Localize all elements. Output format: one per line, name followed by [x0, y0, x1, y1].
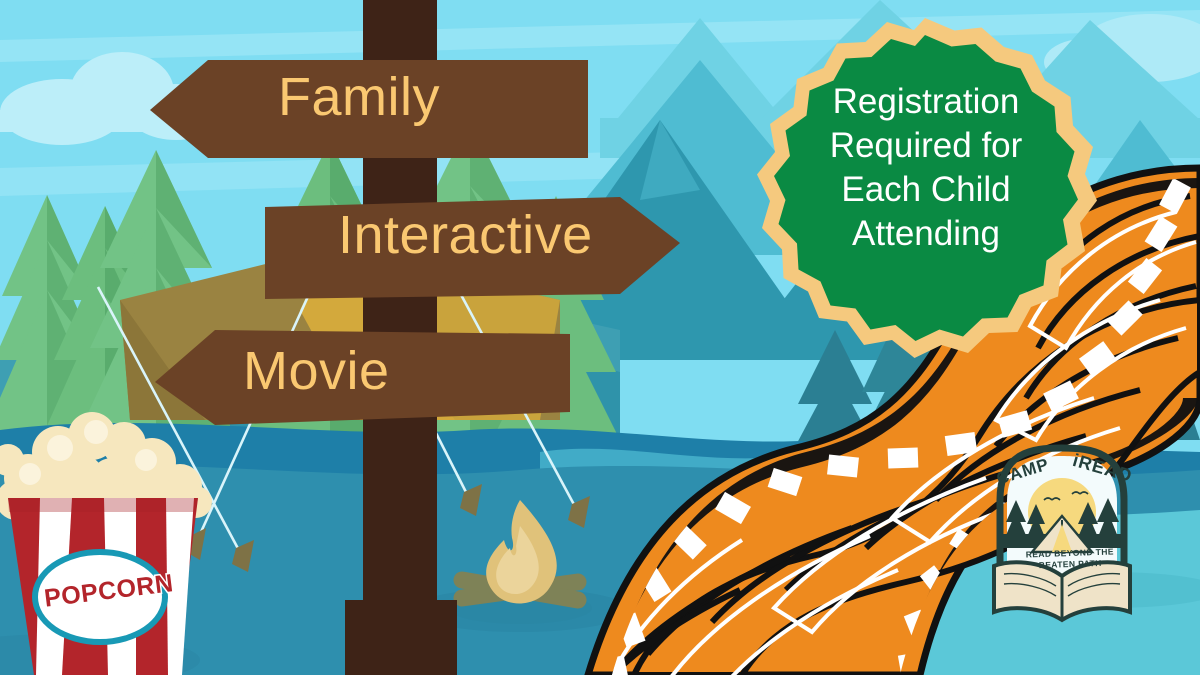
- poster-canvas: Family Interactive Movie Registration Re…: [0, 0, 1200, 675]
- camp-iread-logo: [0, 0, 1200, 675]
- logo-tagline: READ BEYOND THE BEATEN PATH: [1014, 546, 1127, 572]
